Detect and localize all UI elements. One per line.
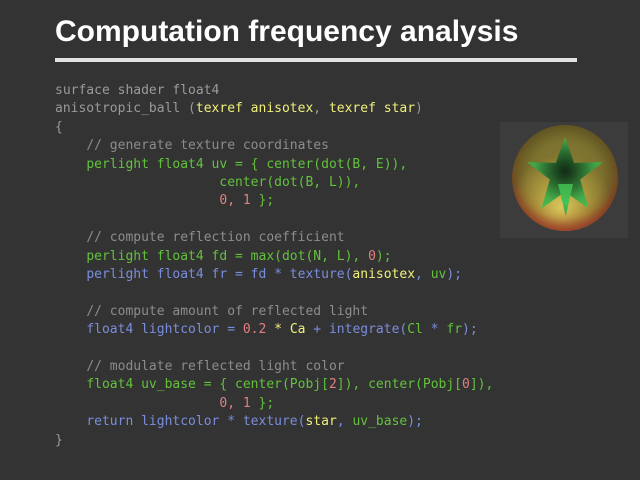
code-line: perlight float4 fr = fd * texture(anisot… bbox=[55, 266, 615, 284]
code-indent bbox=[55, 377, 86, 392]
code-token-blue: float4 lightcolor = bbox=[86, 322, 243, 337]
code-line: } bbox=[55, 432, 615, 450]
code-token-green: perlight float4 uv = { center(dot(B, E))… bbox=[86, 157, 407, 172]
code-indent bbox=[55, 230, 86, 245]
render-image-panel bbox=[500, 122, 628, 238]
code-line: float4 lightcolor = 0.2 * Ca + integrate… bbox=[55, 321, 615, 339]
code-token-blue: + integrate( bbox=[305, 322, 407, 337]
code-line: // compute amount of reflected light bbox=[55, 303, 615, 321]
code-line: surface shader float4 bbox=[55, 82, 615, 100]
code-token-green: }; bbox=[251, 193, 274, 208]
code-token-plain: surface shader float4 bbox=[55, 83, 219, 98]
code-indent bbox=[55, 359, 86, 374]
code-token-yellow: texref star bbox=[321, 101, 415, 116]
code-token-green: fr bbox=[446, 322, 462, 337]
code-token-salmon: 0, 1 bbox=[219, 396, 250, 411]
code-token-yellow: texref anisotex bbox=[196, 101, 313, 116]
code-token-green: ); bbox=[376, 249, 392, 264]
page-title: Computation frequency analysis bbox=[55, 14, 585, 50]
code-indent bbox=[55, 267, 86, 282]
code-token-green: Cl bbox=[407, 322, 423, 337]
code-token-green: uv_base bbox=[352, 414, 407, 429]
code-token-salmon: 0 bbox=[462, 377, 470, 392]
code-token-plain: { bbox=[55, 120, 63, 135]
code-token-green: center(dot(B, L)), bbox=[219, 175, 360, 190]
code-token-yellow: anisotex bbox=[352, 267, 415, 282]
code-token-yellow: star bbox=[305, 414, 336, 429]
code-token-plain: anisotropic_ball ( bbox=[55, 101, 196, 116]
code-token-green: }; bbox=[251, 396, 274, 411]
code-token-blue: , bbox=[337, 414, 353, 429]
code-token-green: float4 uv_base = { center(Pobj[ bbox=[86, 377, 329, 392]
code-token-green: ]), bbox=[470, 377, 493, 392]
code-token-plain: , bbox=[313, 101, 321, 116]
code-indent bbox=[55, 193, 219, 208]
code-token-blue: ); bbox=[462, 322, 478, 337]
code-token-blue: , bbox=[415, 267, 431, 282]
code-indent bbox=[55, 396, 219, 411]
code-token-comment: // compute amount of reflected light bbox=[86, 304, 368, 319]
slide-canvas: Computation frequency analysis surface s… bbox=[0, 0, 640, 480]
code-token-salmon: 0, 1 bbox=[219, 193, 250, 208]
code-line bbox=[55, 340, 615, 358]
code-line: float4 uv_base = { center(Pobj[2]), cent… bbox=[55, 376, 615, 394]
code-line: 0, 1 }; bbox=[55, 395, 615, 413]
code-indent bbox=[55, 175, 219, 190]
code-indent bbox=[55, 414, 86, 429]
code-indent bbox=[55, 304, 86, 319]
code-token-comment: // generate texture coordinates bbox=[86, 138, 329, 153]
code-indent bbox=[55, 322, 86, 337]
title-block: Computation frequency analysis bbox=[55, 14, 585, 62]
code-line: return lightcolor * texture(star, uv_bas… bbox=[55, 413, 615, 431]
code-indent bbox=[55, 249, 86, 264]
code-indent bbox=[55, 138, 86, 153]
code-token-salmon: 0 bbox=[368, 249, 376, 264]
code-token-blue: return lightcolor * texture( bbox=[86, 414, 305, 429]
code-token-salmon: 2 bbox=[329, 377, 337, 392]
code-token-comment: // compute reflection coefficient bbox=[86, 230, 344, 245]
title-underline-rule bbox=[55, 58, 577, 62]
code-token-green: uv bbox=[431, 267, 447, 282]
code-token-plain: ) bbox=[415, 101, 423, 116]
code-token-blue: perlight float4 fr = fd * texture( bbox=[86, 267, 352, 282]
code-token-blue: ); bbox=[407, 414, 423, 429]
code-token-blue: * bbox=[423, 322, 446, 337]
code-token-plain: } bbox=[55, 433, 63, 448]
code-line: anisotropic_ball (texref anisotex, texre… bbox=[55, 100, 615, 118]
code-token-yellow: * Ca bbox=[266, 322, 305, 337]
code-token-salmon: 0.2 bbox=[243, 322, 266, 337]
code-line: // modulate reflected light color bbox=[55, 358, 615, 376]
code-line bbox=[55, 284, 615, 302]
code-token-blue: ); bbox=[446, 267, 462, 282]
code-token-green: perlight float4 fd = max(dot(N, L), bbox=[86, 249, 368, 264]
code-token-comment: // modulate reflected light color bbox=[86, 359, 344, 374]
code-token-green: ]), center(Pobj[ bbox=[337, 377, 462, 392]
code-indent bbox=[55, 157, 86, 172]
code-line: perlight float4 fd = max(dot(N, L), 0); bbox=[55, 248, 615, 266]
